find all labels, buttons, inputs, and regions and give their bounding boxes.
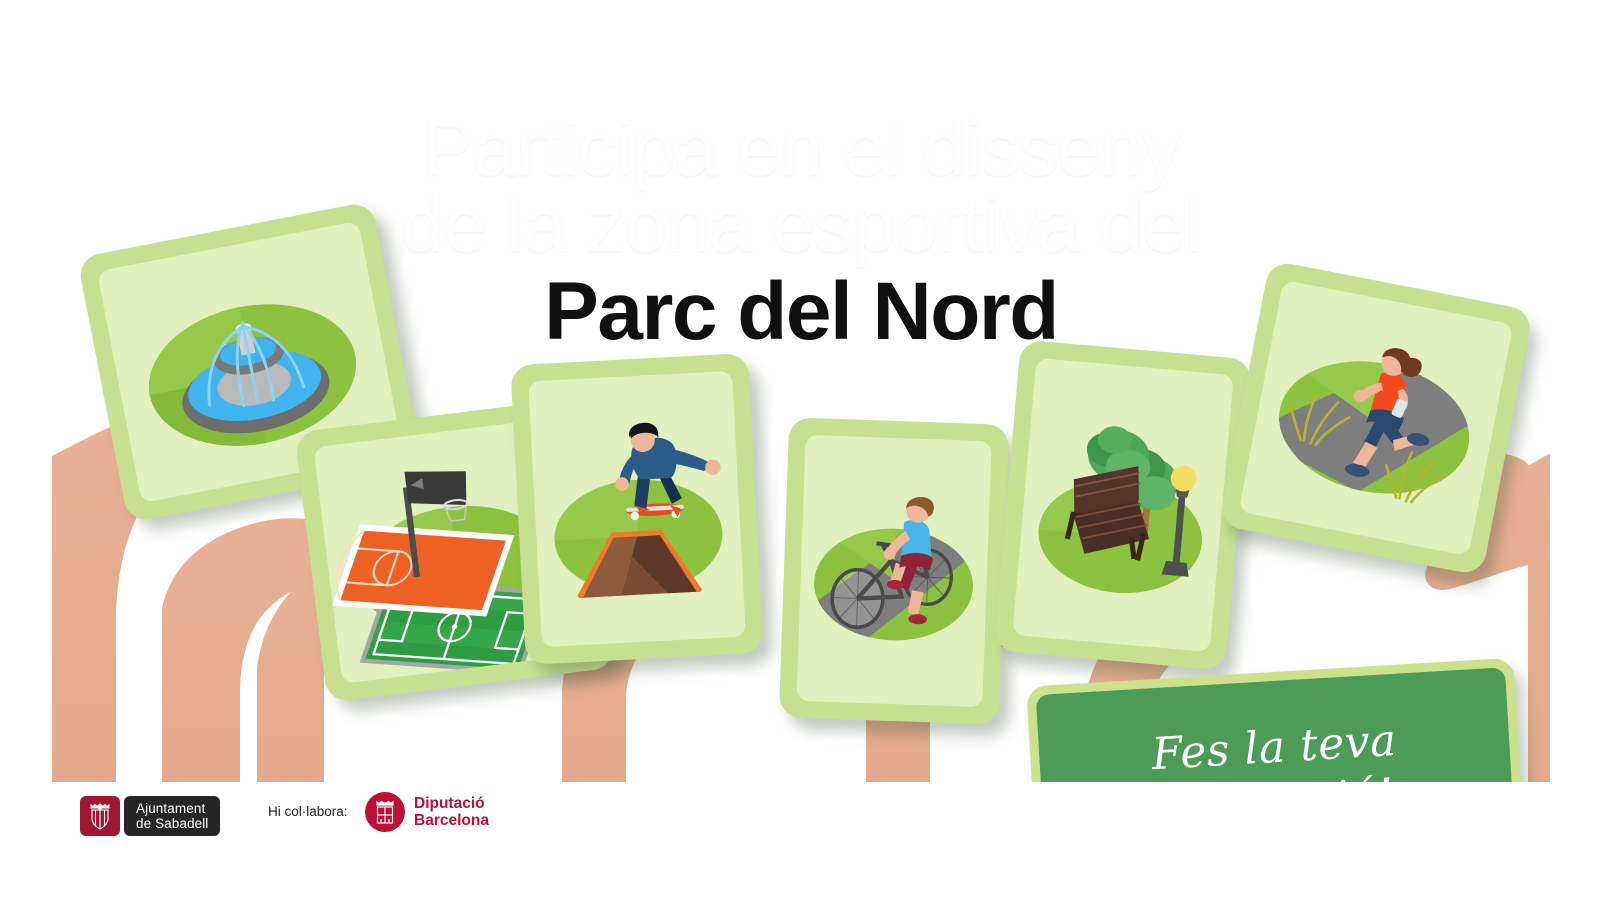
diputacio-line-2: Barcelona — [414, 812, 489, 830]
sabadell-shield-icon — [80, 796, 120, 836]
diputacio-name: Diputació Barcelona — [414, 795, 489, 830]
card-skate[interactable] — [510, 353, 763, 665]
card-bench[interactable] — [994, 339, 1252, 670]
logo-diputacio-barcelona[interactable]: Diputació Barcelona — [365, 792, 489, 832]
logo-ajuntament-sabadell[interactable]: Ajuntament de Sabadell — [80, 796, 220, 836]
park-bench-icon — [1012, 358, 1233, 652]
sabadell-name-box: Ajuntament de Sabadell — [124, 796, 220, 836]
footer-logos: Ajuntament de Sabadell Hi col·labora: Di… — [0, 782, 1600, 900]
sabadell-line-1: Ajuntament — [136, 801, 208, 816]
diputacio-line-1: Diputació — [414, 795, 489, 813]
skateboarder-icon — [528, 371, 746, 647]
card-running[interactable] — [1219, 260, 1534, 576]
sabadell-line-2: de Sabadell — [136, 816, 208, 831]
diputacio-seal-icon — [365, 792, 405, 832]
collaborator-label: Hi col·labora: — [268, 804, 348, 819]
card-running-face — [1239, 280, 1514, 556]
runner-icon — [1239, 280, 1514, 556]
card-bike-face — [796, 435, 991, 707]
card-bench-face — [1012, 358, 1233, 652]
card-skate-face — [528, 371, 746, 647]
cyclist-icon — [796, 435, 991, 707]
card-bike[interactable] — [779, 417, 1009, 724]
